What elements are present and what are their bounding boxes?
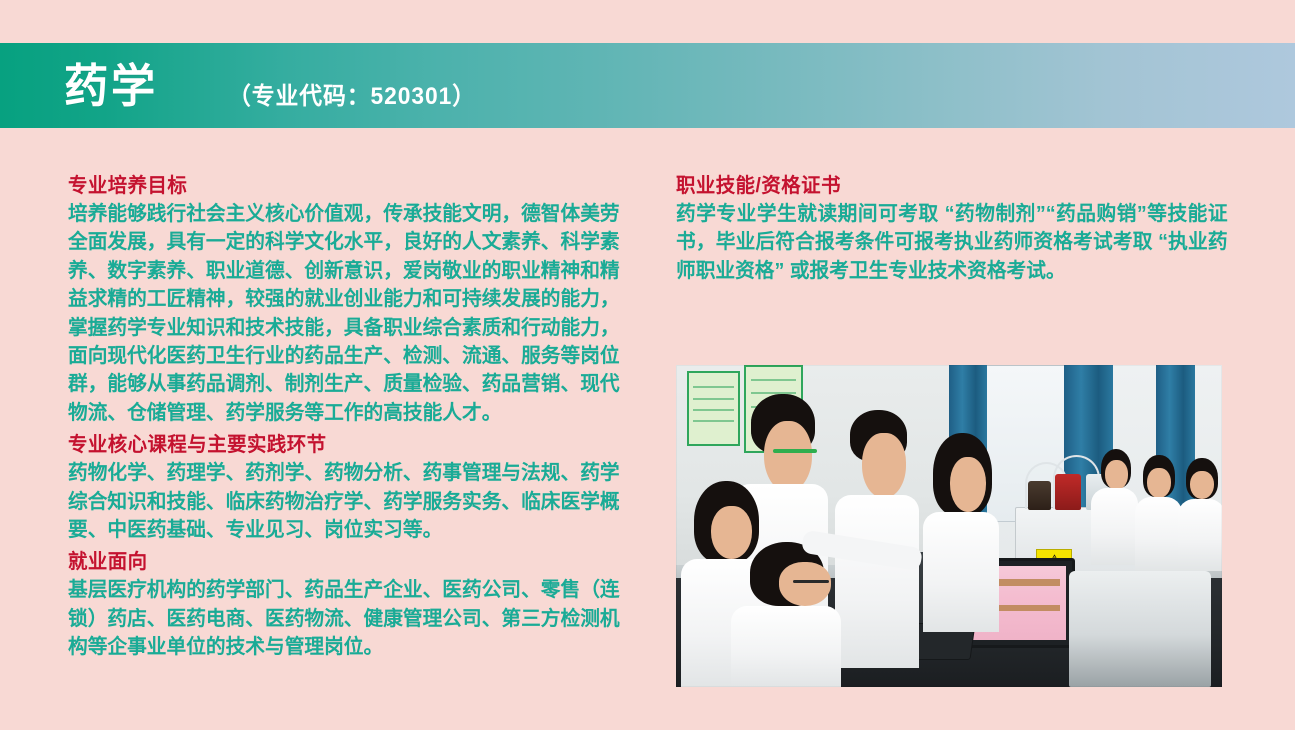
section-training-objective: 专业培养目标 培养能够践行社会主义核心价值观，传承技能文明，德智体美劳全面发展，…: [68, 174, 628, 427]
left-column: 专业培养目标 培养能够践行社会主义核心价值观，传承技能文明，德智体美劳全面发展，…: [68, 174, 628, 665]
photo-safety-glasses-icon: [773, 449, 817, 453]
section-heading-core-courses: 专业核心课程与主要实践环节: [68, 433, 611, 458]
photo-bg-student-1: [1091, 449, 1140, 565]
section-body-core-courses: 药物化学、药理学、药剂学、药物分析、药事管理与法规、药学综合知识和技能、临床药物…: [68, 459, 620, 544]
header-banner: 药学 （专业代码：520301）: [0, 43, 1295, 128]
section-core-courses: 专业核心课程与主要实践环节 药物化学、药理学、药剂学、药物分析、药事管理与法规、…: [68, 433, 628, 544]
photo-bottle-red: [1055, 474, 1080, 509]
photo-student-seated: [731, 542, 851, 687]
section-heading-certificates: 职业技能/资格证书: [676, 174, 1219, 199]
page-title: 药学: [64, 63, 158, 109]
photo-bg-student-2: [1135, 455, 1184, 571]
photo-printer: [1069, 571, 1211, 687]
right-column: 职业技能/资格证书 药学专业学生就读期间可考取 “药物制剂”“药品购销”等技能证…: [676, 174, 1236, 289]
section-heading-training-objective: 专业培养目标: [68, 174, 611, 199]
photo-eyeglasses-icon: [793, 580, 829, 583]
photo-student-3: [922, 433, 1004, 633]
lab-photo-scene: [676, 365, 1222, 687]
section-body-certificates: 药学专业学生就读期间可考取 “药物制剂”“药品购销”等技能证书，毕业后符合报考条…: [676, 200, 1228, 285]
section-heading-employment: 就业面向: [68, 550, 611, 575]
section-body-training-objective: 培养能够践行社会主义核心价值观，传承技能文明，德智体美劳全面发展，具有一定的科学…: [68, 200, 620, 427]
section-certificates: 职业技能/资格证书 药学专业学生就读期间可考取 “药物制剂”“药品购销”等技能证…: [676, 174, 1236, 285]
photo-bg-student-3: [1178, 458, 1222, 571]
photo-bottle-dark: [1028, 481, 1051, 510]
lab-photo: [676, 365, 1222, 687]
section-body-employment: 基层医疗机构的药学部门、药品生产企业、医药公司、零售（连锁）药店、医药电商、医药…: [68, 576, 620, 661]
section-employment: 就业面向 基层医疗机构的药学部门、药品生产企业、医药公司、零售（连锁）药店、医药…: [68, 550, 628, 661]
major-code-label: （专业代码：520301）: [228, 76, 476, 111]
